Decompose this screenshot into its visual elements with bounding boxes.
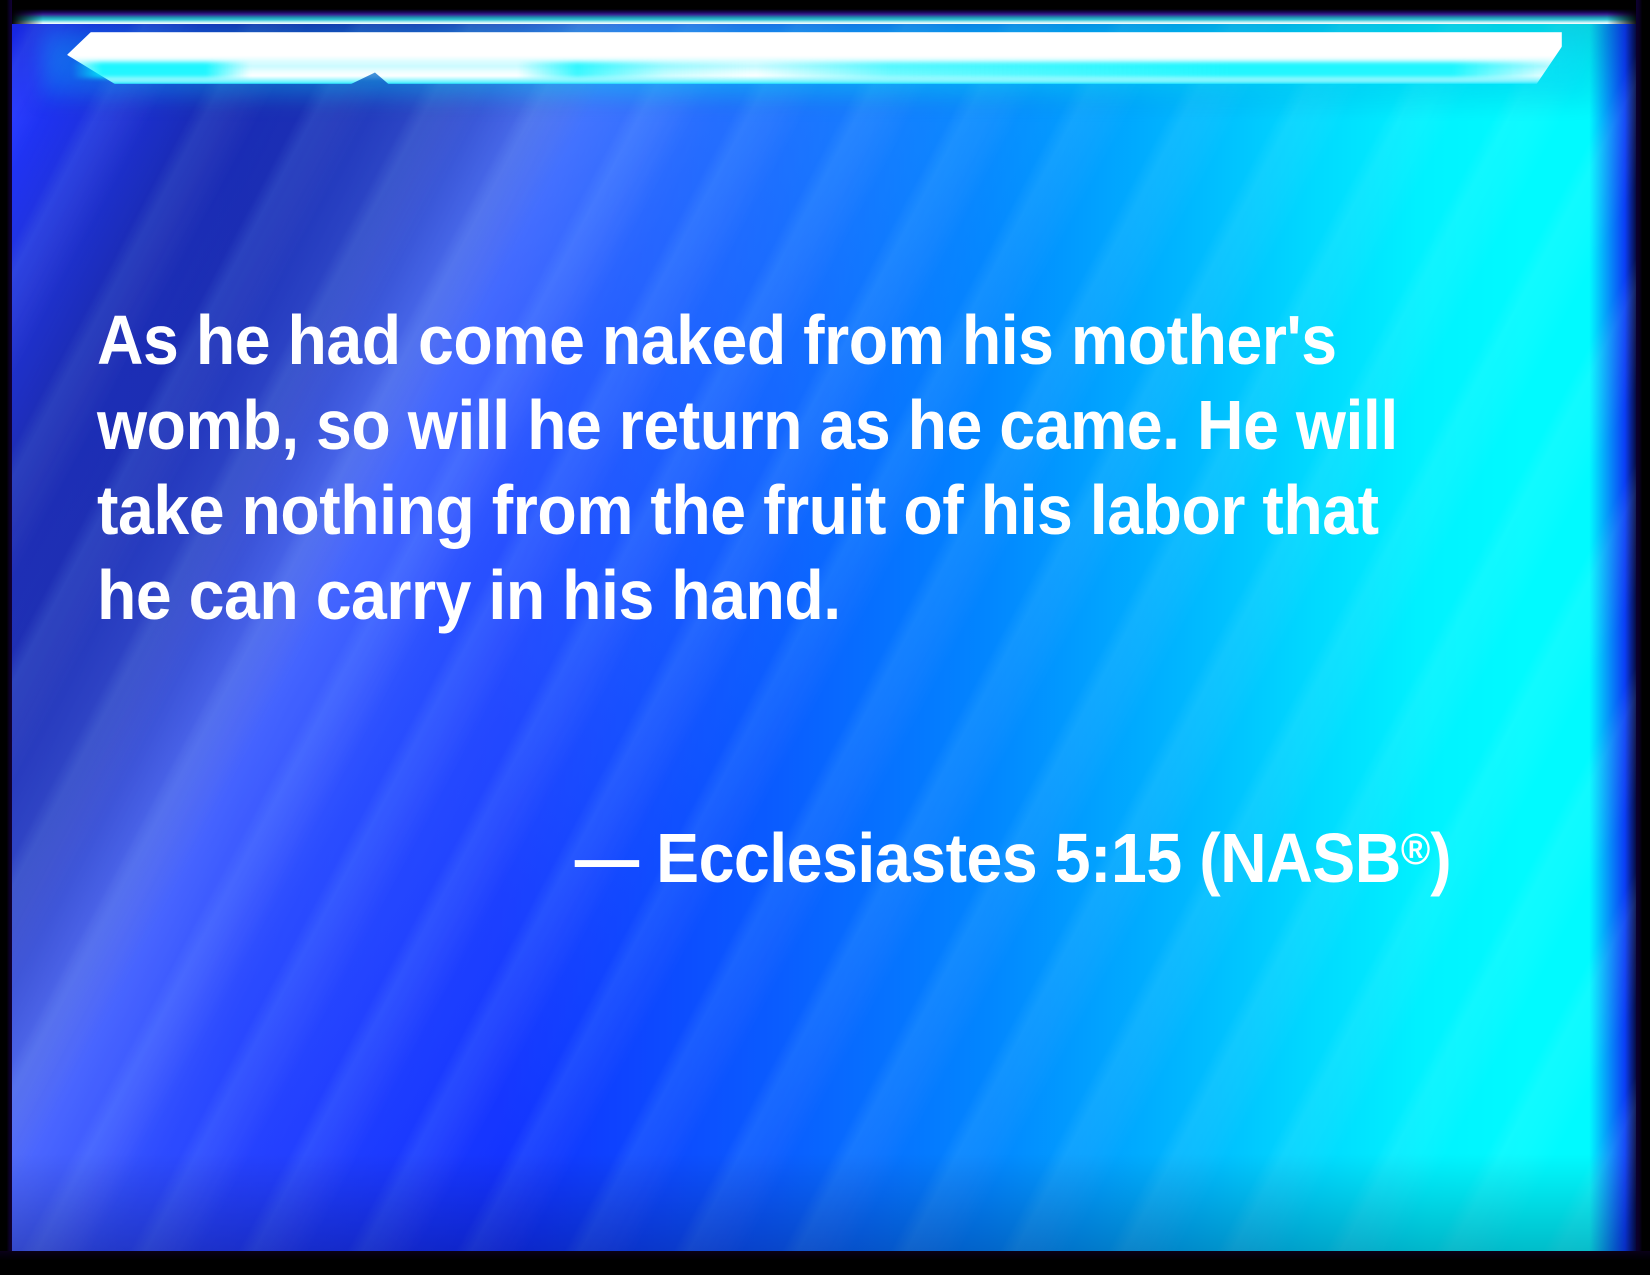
verse-slide: As he had come naked from his mother's w…	[0, 0, 1650, 1275]
verse-reference-translation-close: )	[1430, 819, 1451, 897]
frame-left-border	[0, 0, 12, 1275]
frame-bottom-border	[0, 1251, 1650, 1275]
slide-artwork: As he had come naked from his mother's w…	[12, 10, 1638, 1253]
frame-right-border	[1636, 0, 1650, 1275]
registered-trademark-icon: ®	[1401, 826, 1430, 874]
header-bar	[67, 32, 1562, 84]
verse-reference-book: Ecclesiastes	[656, 819, 1037, 897]
verse-body-text: As he had come naked from his mother's w…	[97, 298, 1459, 638]
verse-reference: — Ecclesiastes 5:15 (NASB®)	[97, 808, 1459, 901]
verse-reference-chapter-verse: 5:15	[1055, 819, 1182, 897]
verse-reference-dash: —	[575, 819, 639, 897]
verse-reference-translation-open: (NASB	[1182, 819, 1401, 897]
verse-text-block: As he had come naked from his mother's w…	[97, 128, 1459, 1071]
